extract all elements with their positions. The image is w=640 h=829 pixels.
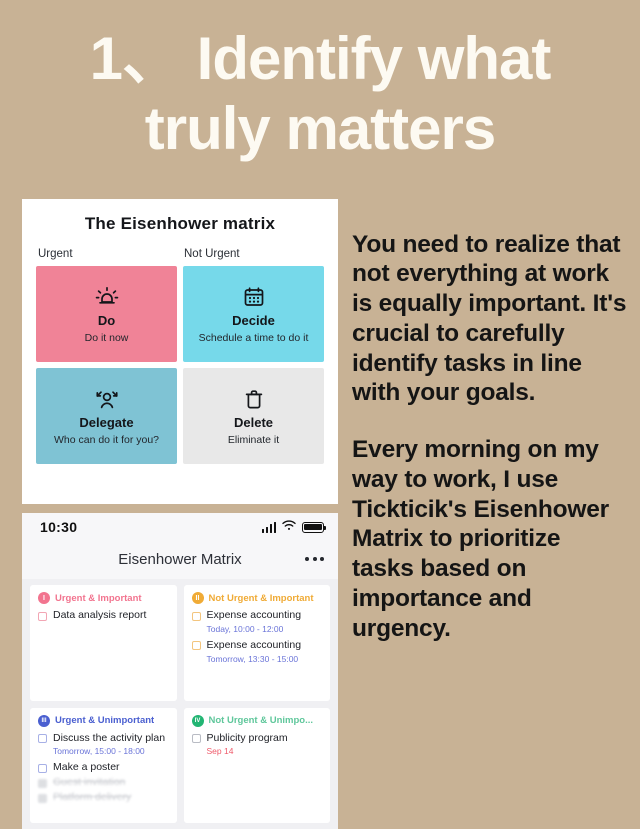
quadrant-do-subtitle: Do it now bbox=[85, 332, 129, 344]
quadrant-delegate: Delegate Who can do it for you? bbox=[36, 368, 177, 464]
column-header-urgent: Urgent bbox=[38, 248, 176, 260]
task-cell-not-urgent-unimportant[interactable]: IV Not Urgent & Unimpo... Publicity prog… bbox=[184, 708, 331, 824]
delegate-person-icon bbox=[94, 386, 120, 412]
matrix-quadrant-grid: Do Do it now bbox=[36, 266, 324, 464]
wifi-icon bbox=[282, 518, 296, 536]
task-checkbox[interactable] bbox=[192, 734, 201, 743]
siren-icon bbox=[95, 284, 119, 310]
task-title: Publicity program bbox=[207, 732, 288, 745]
badge-icon-three: III bbox=[38, 715, 50, 727]
task-title: Make a poster bbox=[53, 761, 120, 774]
status-bar-time: 10:30 bbox=[40, 519, 77, 535]
task-date: Today, 10:00 - 12:00 bbox=[207, 624, 324, 634]
cell-label: Urgent & Important bbox=[55, 593, 142, 604]
calendar-icon bbox=[243, 284, 265, 310]
task-cell-urgent-unimportant[interactable]: III Urgent & Unimportant Discuss the act… bbox=[30, 708, 177, 824]
matrix-column-headers: Urgent Not Urgent bbox=[36, 248, 324, 260]
body-paragraph-1: You need to realize that not everything … bbox=[352, 230, 628, 409]
task-cell-urgent-important[interactable]: I Urgent & Important Data analysis repor… bbox=[30, 585, 177, 701]
badge-icon-two: II bbox=[192, 592, 204, 604]
task-title: Guest invitation bbox=[53, 776, 125, 789]
quadrant-delete: Delete Eliminate it bbox=[183, 368, 324, 464]
list-item[interactable]: Expense accounting bbox=[192, 609, 324, 622]
task-title: Data analysis report bbox=[53, 609, 146, 622]
task-date: Tomorrow, 15:00 - 18:00 bbox=[53, 746, 170, 756]
task-title: Expense accounting bbox=[207, 639, 302, 652]
cellular-signal-icon bbox=[262, 522, 277, 533]
quadrant-decide-subtitle: Schedule a time to do it bbox=[199, 332, 309, 344]
list-item-completed[interactable]: Platform delivery bbox=[38, 791, 170, 804]
trash-icon bbox=[244, 386, 264, 412]
task-date: Tomorrow, 13:30 - 15:00 bbox=[207, 654, 324, 664]
cell-header: II Not Urgent & Important bbox=[192, 592, 324, 604]
app-title: Eisenhower Matrix bbox=[118, 551, 241, 568]
column-header-not-urgent: Not Urgent bbox=[176, 248, 322, 260]
task-checkbox[interactable] bbox=[192, 641, 201, 650]
cell-label: Not Urgent & Important bbox=[209, 593, 314, 604]
cell-label: Not Urgent & Unimpo... bbox=[209, 715, 314, 726]
quadrant-do-title: Do bbox=[98, 314, 115, 328]
more-options-icon[interactable] bbox=[305, 557, 324, 561]
task-quadrant-board: I Urgent & Important Data analysis repor… bbox=[22, 579, 338, 829]
quadrant-delegate-subtitle: Who can do it for you? bbox=[54, 434, 159, 446]
task-title: Expense accounting bbox=[207, 609, 302, 622]
task-checkbox[interactable] bbox=[38, 779, 47, 788]
task-checkbox[interactable] bbox=[38, 612, 47, 621]
badge-icon-four: IV bbox=[192, 715, 204, 727]
phone-app-screenshot: 10:30 Eisenhower Matrix bbox=[22, 513, 338, 829]
list-item-completed[interactable]: Guest invitation bbox=[38, 776, 170, 789]
badge-icon-one: I bbox=[38, 592, 50, 604]
battery-full-icon bbox=[302, 522, 324, 533]
list-item[interactable]: Publicity program bbox=[192, 732, 324, 745]
cell-label: Urgent & Unimportant bbox=[55, 715, 154, 726]
matrix-title: The Eisenhower matrix bbox=[36, 214, 324, 234]
cell-header: IV Not Urgent & Unimpo... bbox=[192, 715, 324, 727]
list-item[interactable]: Expense accounting bbox=[192, 639, 324, 652]
eisenhower-matrix-card: The Eisenhower matrix Urgent Not Urgent bbox=[22, 199, 338, 504]
quadrant-do: Do Do it now bbox=[36, 266, 177, 362]
list-item[interactable]: Data analysis report bbox=[38, 609, 170, 622]
body-paragraph-2: Every morning on my way to work, I use T… bbox=[352, 435, 628, 643]
quadrant-decide: Decide Schedule a time to do it bbox=[183, 266, 324, 362]
phone-status-bar: 10:30 bbox=[22, 513, 338, 539]
task-checkbox[interactable] bbox=[38, 794, 47, 803]
left-column: The Eisenhower matrix Urgent Not Urgent bbox=[22, 199, 338, 829]
cell-header: III Urgent & Unimportant bbox=[38, 715, 170, 727]
task-title: Platform delivery bbox=[53, 791, 131, 804]
quadrant-decide-title: Decide bbox=[232, 314, 275, 328]
task-checkbox[interactable] bbox=[192, 612, 201, 621]
cell-header: I Urgent & Important bbox=[38, 592, 170, 604]
page-title-line-2: truly matters bbox=[12, 94, 628, 164]
task-cell-not-urgent-important[interactable]: II Not Urgent & Important Expense accoun… bbox=[184, 585, 331, 701]
status-bar-icons bbox=[262, 518, 325, 536]
task-checkbox[interactable] bbox=[38, 764, 47, 773]
list-item[interactable]: Discuss the activity plan bbox=[38, 732, 170, 745]
page-title: 1、 Identify what truly matters bbox=[0, 24, 640, 163]
quadrant-delete-subtitle: Eliminate it bbox=[228, 434, 279, 446]
list-item[interactable]: Make a poster bbox=[38, 761, 170, 774]
task-date: Sep 14 bbox=[207, 746, 324, 756]
app-header: Eisenhower Matrix bbox=[22, 539, 338, 579]
quadrant-delete-title: Delete bbox=[234, 416, 273, 430]
right-column: You need to realize that not everything … bbox=[352, 205, 628, 668]
page-title-line-1: 1、 Identify what bbox=[12, 24, 628, 94]
quadrant-delegate-title: Delegate bbox=[79, 416, 133, 430]
poster-page: 1、 Identify what truly matters The Eisen… bbox=[0, 0, 640, 829]
task-checkbox[interactable] bbox=[38, 734, 47, 743]
task-title: Discuss the activity plan bbox=[53, 732, 165, 745]
